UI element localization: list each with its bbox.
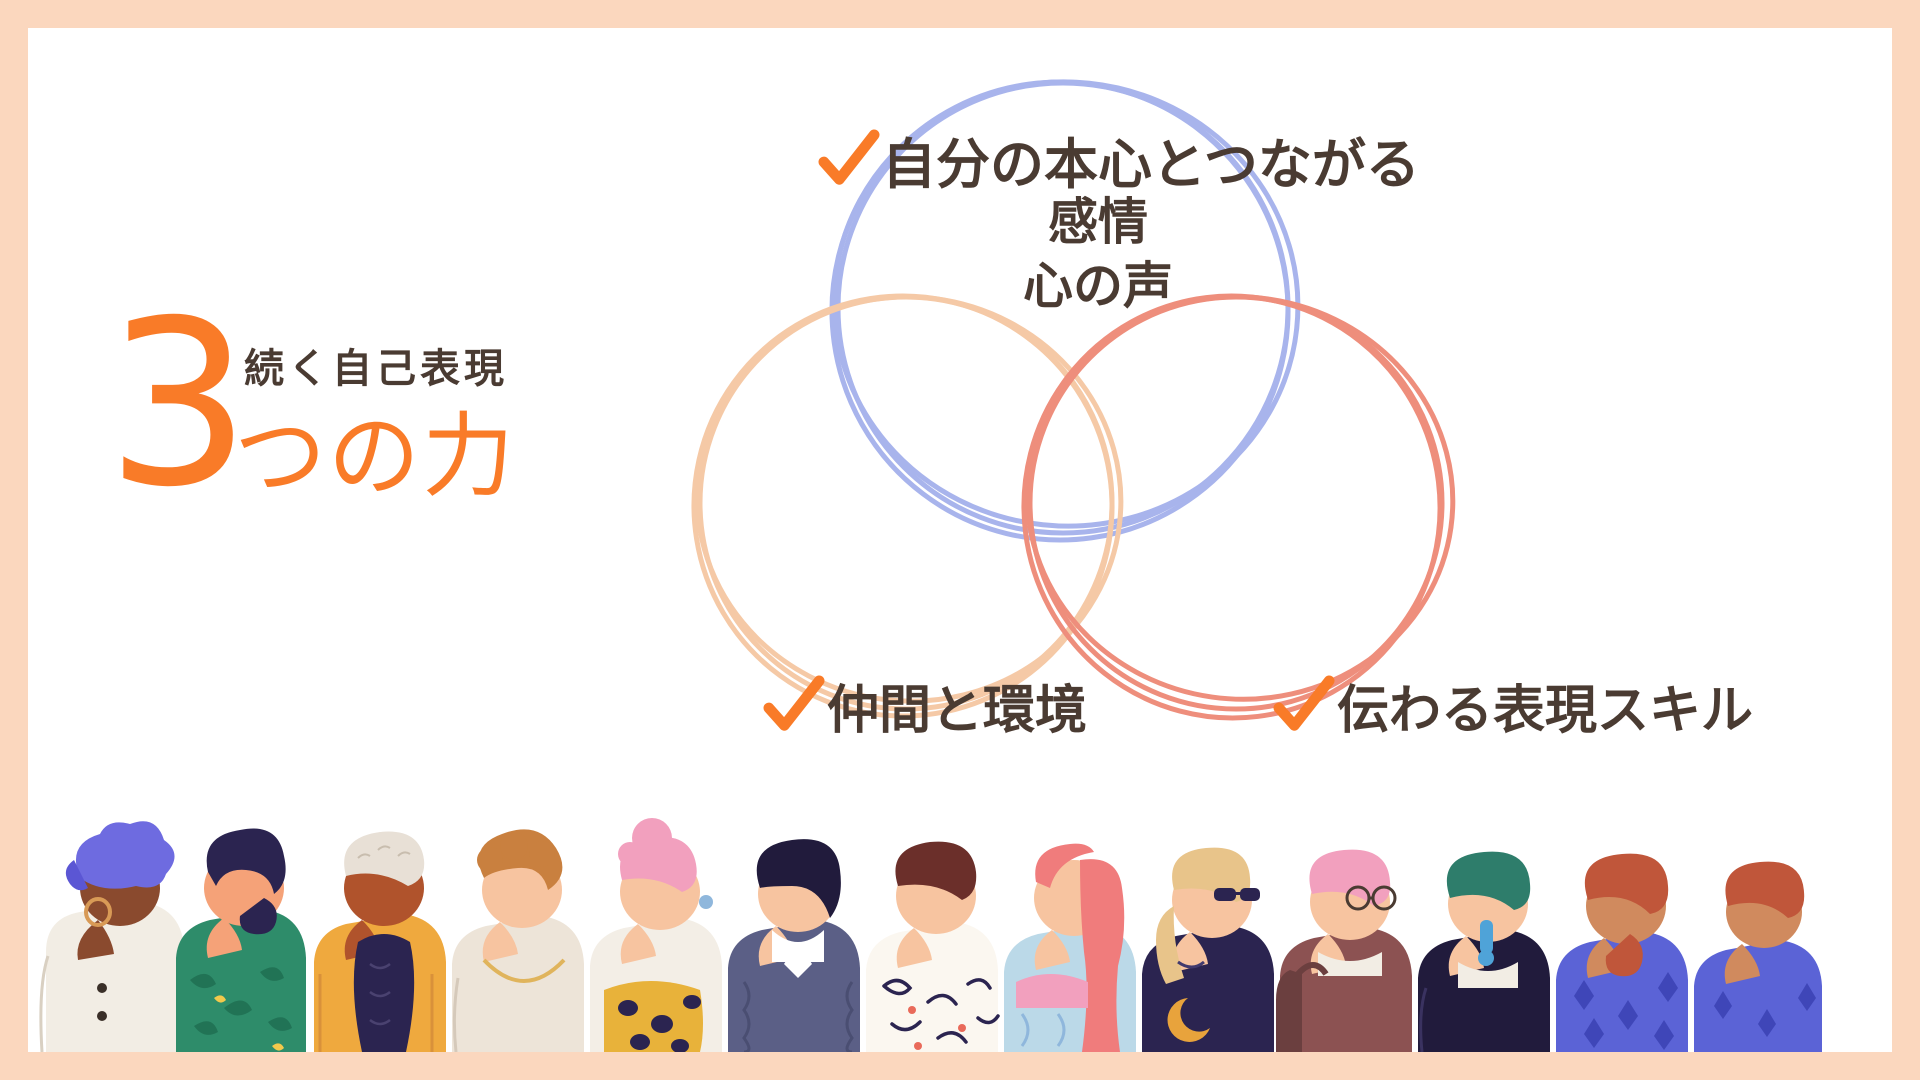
- person-12: [1556, 854, 1688, 1052]
- venn-label-bottom-left: 仲間と環境: [763, 668, 1087, 743]
- venn-label-top-text: 自分の本心とつながる: [882, 120, 1420, 199]
- slide-root: 3 続く自己表現 つの力 自分の本心とつながる 感情 心の声 仲間と環境: [0, 0, 1920, 1080]
- title-main: つの力: [234, 382, 516, 515]
- venn-circle-bottom-right: [1000, 269, 1479, 728]
- venn-circle-bottom-left: [664, 266, 1144, 728]
- person-7: [866, 842, 998, 1052]
- venn-label-bottom-left-text: 仲間と環境: [827, 668, 1087, 743]
- person-5: [590, 818, 722, 1052]
- venn-label-bottom-right: 伝わる表現スキル: [1273, 668, 1753, 743]
- check-icon: [1273, 675, 1335, 737]
- slide-canvas: 3 続く自己表現 つの力 自分の本心とつながる 感情 心の声 仲間と環境: [28, 28, 1892, 1052]
- check-icon: [818, 129, 880, 191]
- venn-label-top-sub: 感情 心の声: [888, 190, 1308, 318]
- person-6: [728, 839, 860, 1052]
- title-number: 3: [106, 290, 247, 518]
- person-13: [1694, 862, 1822, 1052]
- person-3: [314, 832, 446, 1052]
- person-1: [41, 821, 184, 1052]
- venn-label-top: 自分の本心とつながる: [818, 120, 1420, 199]
- person-8: [1004, 844, 1136, 1052]
- check-icon: [763, 675, 825, 737]
- person-11: [1418, 852, 1550, 1052]
- person-2: [176, 828, 306, 1052]
- venn-label-top-sub-line1: 感情: [888, 190, 1308, 254]
- diverse-people-illustration: [28, 802, 1892, 1052]
- venn-label-top-sub-line2: 心の声: [888, 254, 1308, 318]
- title-block: 3 続く自己表現 つの力: [106, 318, 626, 548]
- person-10: [1276, 850, 1412, 1052]
- venn-label-bottom-right-text: 伝わる表現スキル: [1337, 668, 1753, 743]
- person-9: [1142, 848, 1274, 1052]
- person-4: [452, 829, 584, 1052]
